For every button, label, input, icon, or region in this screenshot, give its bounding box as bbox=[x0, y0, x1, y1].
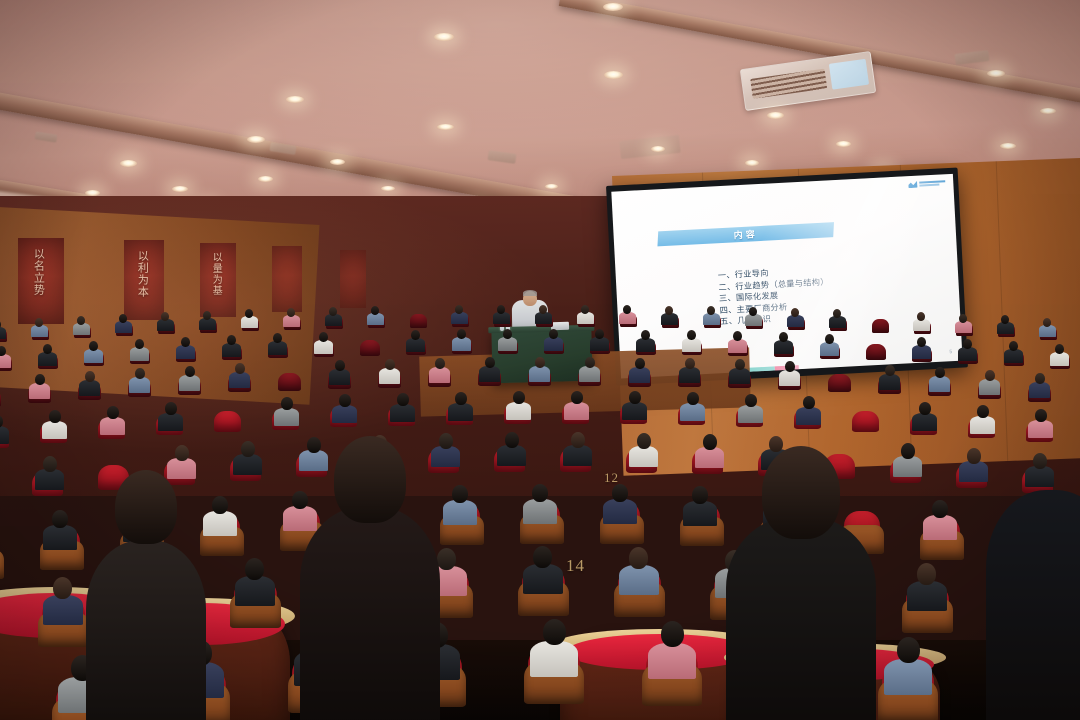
attendee-head bbox=[135, 339, 144, 349]
attendee-torso bbox=[564, 402, 589, 420]
attendee-torso bbox=[1028, 420, 1053, 438]
attendee-head bbox=[181, 337, 190, 347]
attendee-torso bbox=[879, 374, 900, 390]
attendee-torso bbox=[619, 565, 659, 595]
attendee-head bbox=[549, 329, 558, 339]
attendee-head bbox=[185, 366, 195, 377]
attendee-torso bbox=[314, 340, 333, 354]
attendee-torso bbox=[274, 408, 299, 426]
attendee-head bbox=[917, 337, 926, 347]
attendee-head bbox=[985, 370, 995, 381]
attendee-head bbox=[692, 486, 708, 504]
attendee-torso bbox=[683, 501, 717, 526]
attendee-head bbox=[977, 405, 989, 418]
attendee-head bbox=[661, 621, 684, 647]
attendee-head bbox=[49, 410, 61, 423]
attendee-torso bbox=[682, 338, 701, 352]
attendee-head bbox=[932, 500, 948, 518]
attendee-head bbox=[1035, 373, 1045, 384]
attendee-torso bbox=[35, 469, 64, 490]
attendee-torso bbox=[629, 367, 650, 383]
attendee-head bbox=[623, 305, 631, 314]
attendee-torso bbox=[729, 368, 750, 384]
attendee-head bbox=[637, 433, 651, 449]
attendee-torso bbox=[443, 500, 477, 525]
attendee-torso bbox=[235, 576, 275, 606]
attendee-head bbox=[825, 334, 834, 344]
attendee-torso bbox=[958, 347, 977, 361]
attendee-head bbox=[513, 391, 525, 404]
slide-title-bar: 内容 bbox=[657, 222, 834, 246]
attendee-head bbox=[245, 558, 264, 580]
attendee-torso bbox=[332, 405, 357, 423]
attendee-torso bbox=[728, 339, 747, 353]
attendee-head bbox=[452, 485, 468, 503]
attendee-head bbox=[329, 307, 337, 316]
attendee-head bbox=[335, 360, 345, 371]
attendee-torso bbox=[299, 450, 328, 471]
attendee-head bbox=[749, 307, 757, 316]
seat bbox=[852, 411, 879, 432]
attendee-head bbox=[53, 577, 72, 599]
attendee-head bbox=[532, 484, 548, 502]
attendee-head bbox=[385, 359, 395, 370]
attendee-head bbox=[641, 330, 650, 340]
attendee-torso bbox=[43, 525, 77, 550]
attendee-head bbox=[497, 305, 505, 314]
attendee-torso bbox=[406, 338, 425, 352]
attendee-torso bbox=[907, 581, 947, 611]
attendee-torso bbox=[1029, 382, 1050, 398]
attendee-torso bbox=[222, 343, 241, 357]
attendee-head bbox=[612, 484, 628, 502]
downlight-icon bbox=[258, 176, 273, 182]
attendee-head bbox=[967, 448, 981, 464]
attendee-torso bbox=[479, 366, 500, 382]
attendee-torso bbox=[329, 369, 350, 385]
attendee-torso bbox=[680, 403, 705, 421]
attendee-torso bbox=[970, 416, 995, 434]
foreground-attendee-head bbox=[762, 446, 840, 539]
attendee-head bbox=[319, 332, 328, 342]
downlight-icon bbox=[247, 136, 265, 143]
attendee-torso bbox=[0, 426, 9, 444]
attendee-torso bbox=[29, 383, 50, 399]
slide-title-text: 内容 bbox=[733, 227, 758, 241]
attendee-head bbox=[281, 397, 293, 410]
attendee-head bbox=[665, 306, 673, 315]
attendee-torso bbox=[0, 354, 11, 368]
attendee-torso bbox=[1004, 349, 1023, 363]
attendee-torso bbox=[130, 347, 149, 361]
seat bbox=[828, 374, 851, 392]
attendee-head bbox=[735, 359, 745, 370]
attendee-head bbox=[769, 436, 783, 452]
attendee-torso bbox=[979, 379, 1000, 395]
attendee-torso bbox=[820, 342, 839, 356]
attendee-torso bbox=[43, 595, 83, 625]
attendee-head bbox=[439, 433, 453, 449]
attendee-torso bbox=[179, 375, 200, 391]
attendee-head bbox=[397, 393, 409, 406]
attendee-head bbox=[1009, 341, 1018, 351]
attendee-head bbox=[307, 437, 321, 453]
attendee-head bbox=[963, 339, 972, 349]
attendee-torso bbox=[912, 345, 931, 359]
attendee-torso bbox=[679, 367, 700, 383]
attendee-torso bbox=[529, 366, 550, 382]
attendee-head bbox=[287, 308, 295, 317]
seat bbox=[410, 314, 427, 328]
attendee-torso bbox=[42, 421, 67, 439]
attendee-head bbox=[203, 311, 211, 320]
attendee-head bbox=[455, 305, 463, 314]
attendee-torso bbox=[695, 447, 724, 468]
attendee-head bbox=[339, 394, 351, 407]
seat bbox=[872, 319, 889, 333]
downlight-icon bbox=[767, 112, 784, 119]
attendee-head bbox=[571, 391, 583, 404]
seat-number: 14 bbox=[566, 556, 585, 576]
attendee-head bbox=[175, 445, 189, 461]
attendee-head bbox=[1055, 344, 1064, 354]
foreground-attendee-head bbox=[334, 436, 407, 523]
attendee-head bbox=[959, 314, 967, 323]
foreground-attendee bbox=[986, 490, 1080, 720]
attendee-torso bbox=[390, 404, 415, 422]
attendee-head bbox=[885, 365, 895, 376]
attendee-torso bbox=[283, 506, 317, 531]
downlight-icon bbox=[604, 71, 623, 79]
downlight-icon bbox=[172, 186, 188, 192]
attendee-torso bbox=[563, 445, 592, 466]
attendee-torso bbox=[648, 643, 696, 679]
attendee-head bbox=[457, 329, 466, 339]
vent-panel bbox=[829, 58, 869, 89]
foreground-attendee bbox=[726, 516, 876, 720]
attendee-head bbox=[745, 394, 757, 407]
downlight-icon bbox=[330, 159, 345, 165]
attendee-torso bbox=[923, 515, 957, 540]
attendee-torso bbox=[523, 564, 563, 594]
attendee-torso bbox=[506, 402, 531, 420]
attendee-head bbox=[685, 358, 695, 369]
downlight-icon bbox=[745, 160, 759, 166]
foreground-attendee bbox=[86, 540, 206, 720]
attendee-torso bbox=[229, 372, 250, 388]
seat-shell bbox=[0, 550, 4, 579]
attendee-torso bbox=[629, 446, 658, 467]
downlight-icon bbox=[434, 33, 454, 41]
downlight-icon bbox=[1000, 143, 1016, 149]
vent-louvers bbox=[750, 68, 828, 99]
attendee-torso bbox=[738, 405, 763, 423]
attendee-torso bbox=[622, 402, 647, 420]
attendee-torso bbox=[590, 337, 609, 351]
attendee-torso bbox=[779, 370, 800, 386]
attendee-head bbox=[371, 306, 379, 315]
seat bbox=[866, 344, 886, 360]
attendee-head bbox=[635, 358, 645, 369]
attendee-head bbox=[535, 357, 545, 368]
downlight-icon bbox=[381, 186, 395, 191]
attendee-torso bbox=[1025, 466, 1054, 487]
attendee-torso bbox=[0, 327, 6, 339]
attendee-head bbox=[533, 546, 552, 568]
attendee-torso bbox=[79, 380, 100, 396]
attendee-torso bbox=[796, 407, 821, 425]
attendee-torso bbox=[176, 345, 195, 359]
downlight-icon bbox=[1040, 108, 1056, 114]
logo-mark-icon bbox=[908, 181, 917, 188]
attendee-head bbox=[43, 344, 52, 354]
attendee-head bbox=[919, 402, 931, 415]
attendee-head bbox=[1035, 409, 1047, 422]
attendee-head bbox=[273, 333, 282, 343]
attendee-head bbox=[585, 357, 595, 368]
attendee-head bbox=[245, 309, 253, 318]
attendee-torso bbox=[774, 340, 793, 354]
attendee-head bbox=[505, 432, 519, 448]
attendee-head bbox=[52, 510, 68, 528]
downlight-icon bbox=[286, 96, 304, 103]
attendee-head bbox=[581, 305, 589, 314]
attendee-head bbox=[1033, 453, 1047, 469]
seat bbox=[0, 389, 1, 407]
attendee-head bbox=[107, 406, 119, 419]
foreground-attendee-head bbox=[115, 470, 177, 544]
attendee-head bbox=[917, 312, 925, 321]
attendee-head bbox=[212, 496, 228, 514]
attendee-head bbox=[1043, 318, 1051, 327]
attendee-torso bbox=[636, 338, 655, 352]
attendee-head bbox=[89, 341, 98, 351]
attendee-head bbox=[833, 309, 841, 318]
attendee-head bbox=[543, 619, 566, 645]
attendee-head bbox=[235, 363, 245, 374]
slide-logo-icon bbox=[908, 179, 945, 188]
attendee-head bbox=[917, 563, 936, 585]
attendee-head bbox=[77, 316, 85, 325]
attendee-torso bbox=[84, 349, 103, 363]
attendee-torso bbox=[579, 366, 600, 382]
attendee-torso bbox=[884, 659, 932, 695]
foreground-attendee bbox=[300, 506, 440, 720]
downlight-icon bbox=[603, 3, 623, 11]
attendee-torso bbox=[523, 499, 557, 524]
attendee-torso bbox=[1050, 352, 1069, 366]
attendee-head bbox=[733, 331, 742, 341]
attendee-torso bbox=[379, 368, 400, 384]
attendee-torso bbox=[959, 461, 988, 482]
downlight-icon bbox=[437, 124, 454, 130]
attendee-torso bbox=[268, 341, 287, 355]
attendee-head bbox=[437, 548, 456, 570]
attendee-torso bbox=[167, 458, 196, 479]
attendee-torso bbox=[893, 456, 922, 477]
attendee-torso bbox=[498, 337, 517, 351]
attendee-torso bbox=[431, 446, 460, 467]
attendee-torso bbox=[452, 337, 471, 351]
attendee-head bbox=[687, 392, 699, 405]
downlight-icon bbox=[545, 184, 558, 189]
downlight-icon bbox=[651, 146, 665, 152]
downlight-icon bbox=[987, 70, 1005, 77]
attendee-head bbox=[571, 432, 585, 448]
attendee-head bbox=[165, 402, 177, 415]
attendee-head bbox=[629, 547, 648, 569]
attendee-head bbox=[901, 443, 915, 459]
attendee-torso bbox=[129, 377, 150, 393]
attendee-head bbox=[935, 367, 945, 378]
attendee-torso bbox=[429, 367, 450, 383]
downlight-icon bbox=[120, 160, 137, 167]
attendee-head bbox=[119, 314, 127, 323]
attendee-head bbox=[629, 391, 641, 404]
attendee-head bbox=[791, 308, 799, 317]
attendee-head bbox=[161, 312, 169, 321]
attendee-torso bbox=[203, 511, 237, 536]
attendee-torso bbox=[530, 641, 578, 677]
attendee-torso bbox=[603, 499, 637, 524]
attendee-head bbox=[135, 368, 145, 379]
attendee-head bbox=[503, 329, 512, 339]
attendee-torso bbox=[497, 445, 526, 466]
attendee-head bbox=[595, 329, 604, 339]
attendee-torso bbox=[158, 413, 183, 431]
downlight-icon bbox=[836, 141, 851, 147]
attendee-head bbox=[707, 306, 715, 315]
attendee-head bbox=[292, 491, 308, 509]
attendee-head bbox=[227, 335, 236, 345]
attendee-head bbox=[687, 330, 696, 340]
attendee-torso bbox=[38, 352, 57, 366]
attendee-head bbox=[241, 441, 255, 457]
attendee-head bbox=[897, 637, 920, 663]
attendee-head bbox=[785, 361, 795, 372]
attendee-head bbox=[703, 434, 717, 450]
seat bbox=[360, 340, 380, 356]
attendee-head bbox=[1001, 315, 1009, 324]
attendee-head bbox=[35, 374, 45, 385]
attendee-head bbox=[803, 396, 815, 409]
seat bbox=[214, 411, 241, 432]
attendee-torso bbox=[929, 376, 950, 392]
attendee-head bbox=[435, 358, 445, 369]
attendee-torso bbox=[100, 417, 125, 435]
attendee-head bbox=[779, 332, 788, 342]
logo-wordmark bbox=[919, 180, 945, 186]
attendee-head bbox=[43, 456, 57, 472]
attendee-head bbox=[539, 305, 547, 314]
auditorium-photo: 以名立势 以利为本 以量为基 内容 一、行业导向 二、行业趋势（总量与结构） 三… bbox=[0, 0, 1080, 720]
attendee-torso bbox=[544, 337, 563, 351]
attendee-head bbox=[35, 318, 43, 327]
attendee-head bbox=[485, 357, 495, 368]
attendee-torso bbox=[448, 403, 473, 421]
attendee-torso bbox=[233, 454, 262, 475]
attendee-head bbox=[411, 330, 420, 340]
attendee-head bbox=[455, 392, 467, 405]
attendee-head bbox=[85, 371, 95, 382]
seat bbox=[278, 373, 301, 391]
seat-number: 12 bbox=[604, 470, 619, 486]
attendee-torso bbox=[912, 413, 937, 431]
